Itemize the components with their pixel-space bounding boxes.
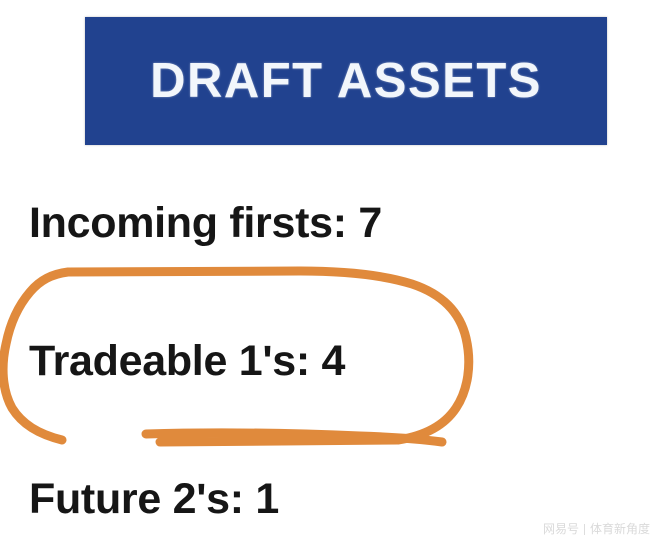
draft-assets-banner: DRAFT ASSETS: [85, 17, 607, 145]
page-title: DRAFT ASSETS: [150, 57, 542, 106]
watermark-account: 体育新角度: [590, 523, 650, 535]
stat-line-incoming-firsts: Incoming firsts: 7: [29, 202, 382, 245]
stat-line-tradeable-firsts: Tradeable 1's: 4: [29, 340, 345, 383]
watermark-divider: [584, 524, 585, 535]
watermark: 网易号 体育新角度: [543, 523, 650, 535]
watermark-source: 网易号: [543, 523, 579, 535]
stat-line-future-seconds: Future 2's: 1: [29, 478, 279, 521]
draft-assets-infographic: DRAFT ASSETS Incoming firsts: 7 Tradeabl…: [0, 0, 660, 542]
